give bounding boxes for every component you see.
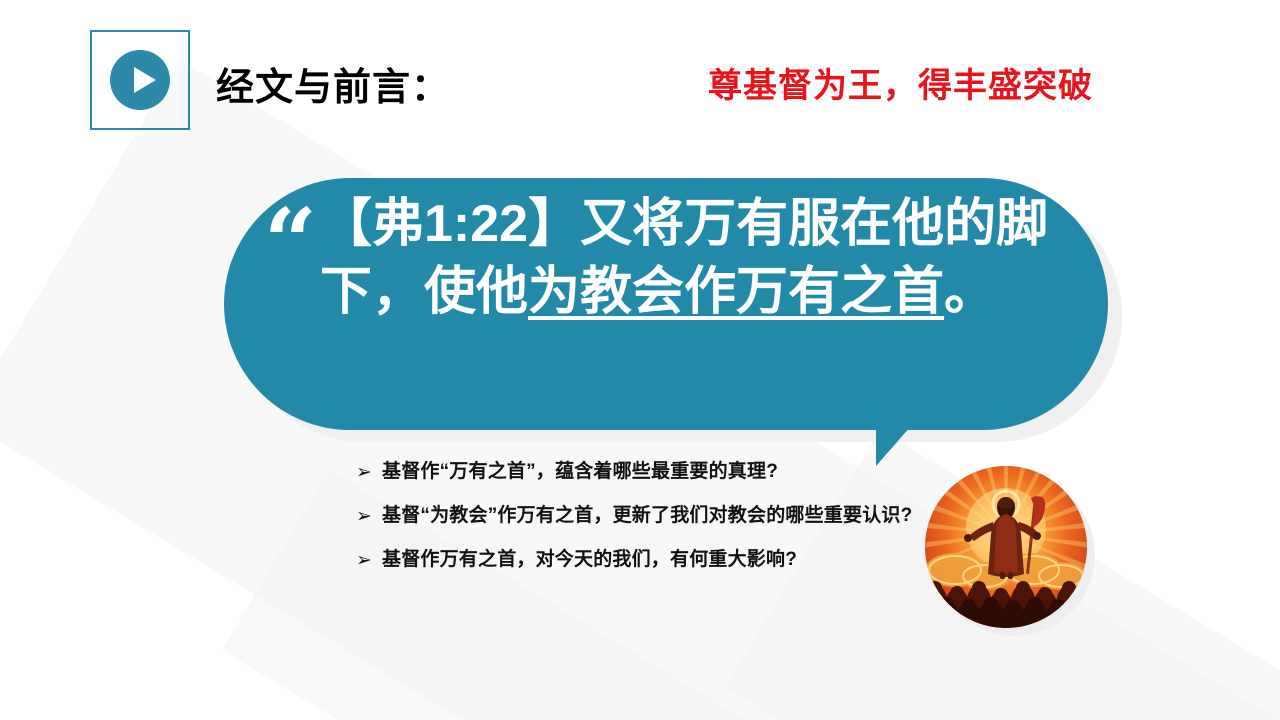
scripture-quote-bubble: “ 【弗1:22】又将万有服在他的脚下，使他为教会作万有之首。	[224, 178, 1108, 430]
scripture-quote-text: 【弗1:22】又将万有服在他的脚下，使他为教会作万有之首。	[320, 190, 1090, 326]
list-item: ➢ 基督作万有之首，对今天的我们，有何重大影响?	[356, 546, 936, 574]
list-item-label: 基督作万有之首，对今天的我们，有何重大影响?	[382, 546, 936, 574]
play-button-in-frame-icon	[90, 30, 190, 130]
question-list: ➢ 基督作“万有之首”，蕴含着哪些最重要的真理? ➢ 基督“为教会”作万有之首，…	[356, 458, 936, 590]
arrow-bullet-icon: ➢	[356, 502, 382, 530]
page-subtitle: 尊基督为王，得丰盛突破	[708, 58, 1093, 107]
page-title: 经文与前言：	[216, 56, 450, 111]
arrow-bullet-icon: ➢	[356, 546, 382, 574]
arrow-bullet-icon: ➢	[356, 458, 382, 486]
slide-canvas: 经文与前言： 尊基督为王，得丰盛突破 “ 【弗1:22】又将万有服在他的脚下，使…	[0, 0, 1280, 720]
play-triangle-icon	[134, 67, 156, 93]
quote-segment-after: 。	[944, 263, 996, 321]
list-item: ➢ 基督“为教会”作万有之首，更新了我们对教会的哪些重要认识?	[356, 502, 936, 530]
quote-segment-underlined: 为教会作万有之首	[528, 263, 944, 321]
list-item: ➢ 基督作“万有之首”，蕴含着哪些最重要的真理?	[356, 458, 936, 486]
list-item-label: 基督“为教会”作万有之首，更新了我们对教会的哪些重要认识?	[382, 502, 936, 530]
list-item-label: 基督作“万有之首”，蕴含着哪些最重要的真理?	[382, 458, 936, 486]
open-quotation-mark-icon: “	[264, 196, 317, 288]
christ-ascending-with-crowd-illustration	[925, 466, 1087, 628]
